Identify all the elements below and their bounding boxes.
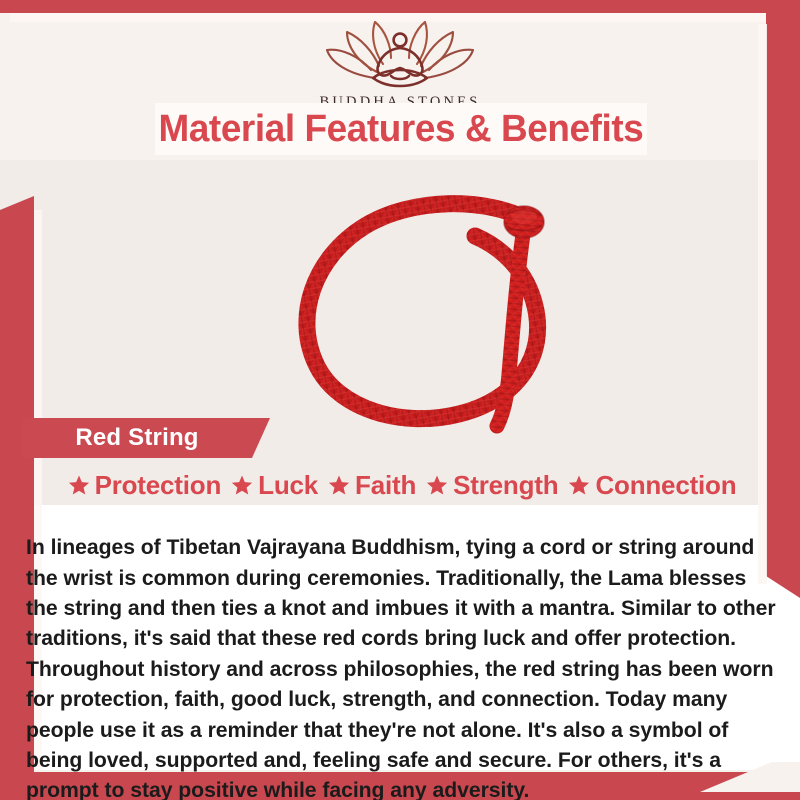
feature-item-protection: Protection: [68, 470, 222, 501]
product-label-banner: Red String: [22, 418, 270, 458]
description-paragraph: In lineages of Tibetan Vajrayana Buddhis…: [26, 533, 778, 800]
infographic-poster: BUDDHA STONES Material Features & Benefi…: [0, 0, 800, 800]
star-icon: [231, 474, 253, 496]
brand-lockup: BUDDHA STONES: [0, 18, 800, 111]
feature-item-connection: Connection: [568, 470, 736, 501]
feature-label: Protection: [95, 470, 222, 501]
star-icon: [328, 474, 350, 496]
page-title: Material Features & Benefits: [159, 108, 644, 151]
feature-label: Faith: [355, 470, 416, 501]
feature-item-luck: Luck: [231, 470, 318, 501]
feature-label: Connection: [595, 470, 736, 501]
lotus-meditation-icon: [315, 18, 485, 90]
star-icon: [68, 474, 90, 496]
frame-bar-top: [0, 0, 800, 13]
feature-label: Luck: [258, 470, 318, 501]
bracelet-knot: [504, 206, 544, 238]
feature-list: Protection Luck Faith Strength Connectio: [30, 466, 774, 504]
red-string-bracelet-image: [235, 160, 595, 435]
feature-item-strength: Strength: [426, 470, 558, 501]
star-icon: [568, 474, 590, 496]
product-label-text: Red String: [22, 418, 270, 458]
title-banner: Material Features & Benefits: [155, 103, 647, 155]
feature-item-faith: Faith: [328, 470, 416, 501]
star-icon: [426, 474, 448, 496]
feature-label: Strength: [453, 470, 558, 501]
